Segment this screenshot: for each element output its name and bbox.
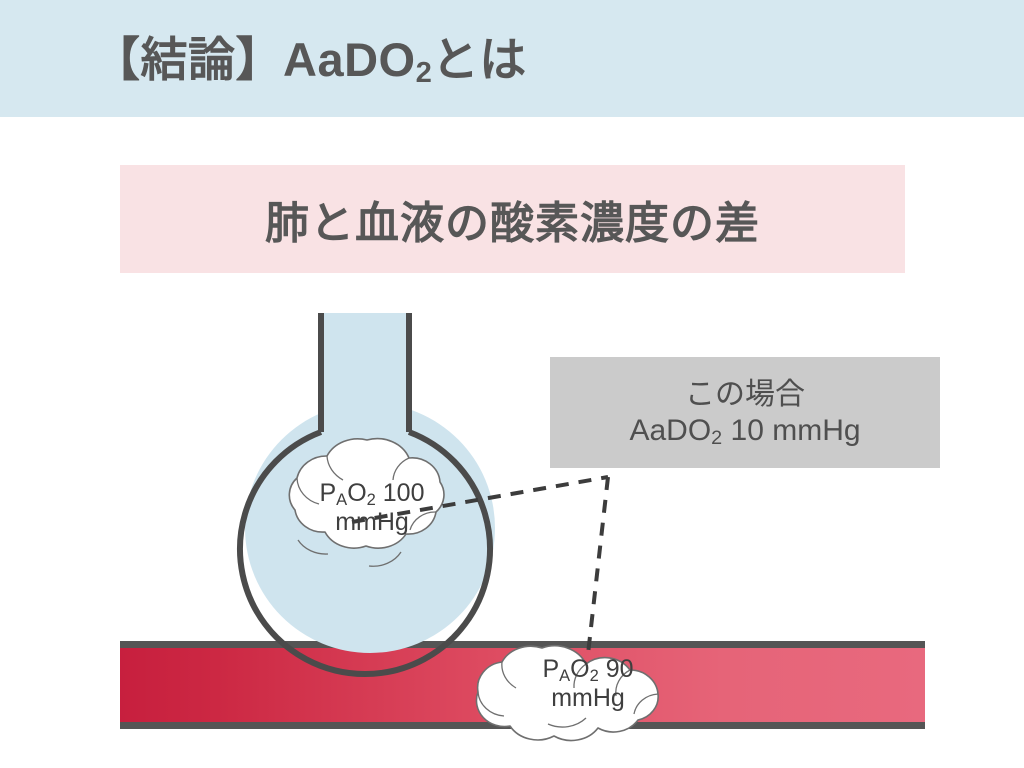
result-callout-line2-prefix: AaDO <box>629 414 711 447</box>
arterial-o-symbol: O <box>570 655 589 683</box>
alveolar-value: 100 <box>376 479 425 507</box>
alveolar-two-subscript: 2 <box>367 491 376 509</box>
alveolar-cloud-line2: mmHg <box>286 508 458 537</box>
alveolar-cloud-line1: PAO2 100 <box>286 479 458 508</box>
result-callout-line2-subscript: 2 <box>711 427 722 449</box>
slide-canvas: 【結論】AaDO2とは 肺と血液の酸素濃度の差 この場合 AaDO2 10 mm… <box>0 0 1024 768</box>
page-title-prefix: 【結論】 <box>93 33 283 86</box>
header-band: 【結論】AaDO2とは <box>0 0 1024 117</box>
arterial-two-subscript: 2 <box>590 667 599 685</box>
result-callout-line1: この場合 <box>685 377 805 412</box>
arterial-p-symbol: P <box>542 655 559 683</box>
page-title-subscript: 2 <box>416 57 432 89</box>
page-title-main: AaDO <box>283 33 416 86</box>
arterial-a-subscript: A <box>559 667 570 685</box>
arterial-cloud-line1: PAO2 90 <box>504 655 672 684</box>
alveolar-a-subscript: A <box>336 491 347 509</box>
result-callout-line2-suffix: 10 mmHg <box>722 414 860 447</box>
page-title-suffix: とは <box>432 33 527 86</box>
arterial-value: 90 <box>599 655 634 683</box>
page-title: 【結論】AaDO2とは <box>93 36 527 83</box>
result-callout-line2: AaDO2 10 mmHg <box>629 413 860 448</box>
definition-banner: 肺と血液の酸素濃度の差 <box>120 165 905 273</box>
alveolar-cloud-label: PAO2 100 mmHg <box>286 479 458 536</box>
definition-banner-text: 肺と血液の酸素濃度の差 <box>265 187 760 251</box>
alveolar-p-symbol: P <box>319 479 336 507</box>
arterial-cloud-label: PAO2 90 mmHg <box>504 655 672 712</box>
arterial-cloud-line2: mmHg <box>504 684 672 713</box>
result-callout-box: この場合 AaDO2 10 mmHg <box>550 357 940 468</box>
alveolar-o-symbol: O <box>347 479 366 507</box>
